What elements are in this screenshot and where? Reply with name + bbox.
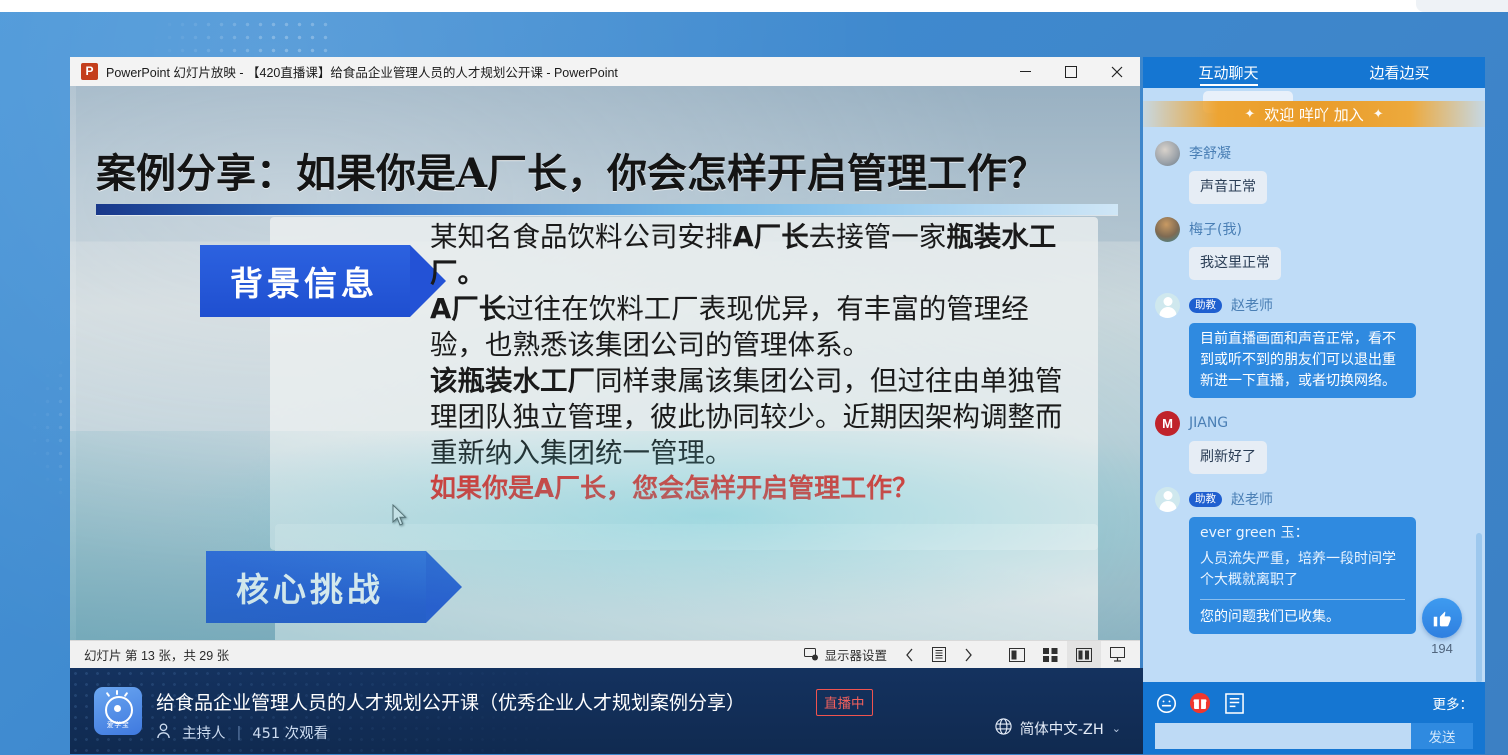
slide-title-underline	[96, 204, 1118, 215]
monitor-settings-icon[interactable]: 显示器设置	[795, 641, 896, 668]
chat-username: 赵老师	[1231, 295, 1273, 315]
platform-logo-label: 爱学宝	[94, 720, 142, 730]
slide-body-paragraph-3: 该瓶装水工厂同样隶属该集团公司，但过往由单独管理团队独立管理，彼此协同较少。近期…	[430, 363, 1080, 471]
chat-scrollbar[interactable]	[1476, 533, 1482, 682]
live-video-player[interactable]: PowerPoint 幻灯片放映 - 【420直播课】给食品企业管理人员的人才规…	[70, 57, 1140, 668]
chat-bubble: 我这里正常	[1189, 247, 1281, 280]
quoted-question-body: 人员流失严重，培养一段时间学个大概就离职了	[1200, 549, 1405, 591]
list-item: 李舒凝 声音正常	[1155, 141, 1467, 204]
host-label: 主持人	[182, 722, 226, 743]
language-label: 简体中文-ZH	[1020, 718, 1104, 739]
chat-bubble: 刷新好了	[1189, 441, 1267, 474]
slide-body-run-1b: A厂长	[733, 221, 809, 253]
powerpoint-title-bar[interactable]: PowerPoint 幻灯片放映 - 【420直播课】给食品企业管理人员的人才规…	[70, 57, 1140, 87]
slide-body-run-2b: 过往在饮料工厂表现优异，有丰富的管理经验，也熟悉该集团公司的管理体系。	[430, 293, 1029, 361]
status-badge: 助教	[1189, 492, 1222, 507]
chat-bubble-reply: 您的问题我们已收集。	[1200, 607, 1405, 628]
person-icon	[156, 723, 171, 743]
chat-message-header: 梅子(我)	[1155, 217, 1467, 241]
globe-icon	[995, 718, 1012, 739]
slide-tag-background-info: 背景信息	[200, 245, 410, 317]
like-count: 194	[1415, 641, 1469, 656]
chat-message-header: 李舒凝	[1155, 141, 1467, 165]
slide-content-panel-bottom	[275, 524, 1098, 641]
avatar[interactable]	[1155, 487, 1180, 512]
list-item: M JIANG 刷新好了	[1155, 411, 1467, 474]
slide-tag-core-label: 核心挑战	[236, 563, 384, 611]
gift-icon[interactable]	[1189, 692, 1211, 714]
welcome-banner-text: 欢迎 咩吖 加入	[1264, 104, 1364, 125]
emoji-icon[interactable]	[1155, 692, 1177, 714]
chat-message-header: M JIANG	[1155, 411, 1467, 435]
note-icon[interactable]	[1223, 692, 1245, 714]
sparkle-icon-left: ✦	[1244, 107, 1255, 122]
chat-input[interactable]	[1155, 723, 1411, 749]
powerpoint-window-title: PowerPoint 幻灯片放映 - 【420直播课】给食品企业管理人员的人才规…	[106, 62, 618, 81]
maximize-button[interactable]	[1048, 57, 1094, 86]
powerpoint-view-tools: 显示器设置	[795, 641, 1140, 668]
slide-body-paragraph-2: A厂长过往在饮料工厂表现优异，有丰富的管理经验，也熟悉该集团公司的管理体系。	[430, 291, 1080, 363]
reading-view-icon[interactable]	[1000, 641, 1034, 668]
avatar[interactable]	[1155, 293, 1180, 318]
live-meta-row: 主持人 | 451 次观看	[156, 722, 328, 743]
chat-bubble: 目前直播画面和声音正常，看不到或听不到的朋友们可以退出重新进一下直播，或者切换网…	[1189, 323, 1416, 398]
quoted-question-author: ever green 玉：	[1200, 523, 1405, 544]
previous-slide-icon[interactable]	[896, 641, 923, 668]
slide-body-run-1c: 去接管一家	[809, 221, 947, 253]
chat-username: 赵老师	[1231, 489, 1273, 509]
slide-body-text: 某知名食品饮料公司安排A厂长去接管一家瓶装水工厂。 A厂长过往在饮料工厂表现优异…	[430, 219, 1080, 507]
live-info-bar: 爱学宝 给食品企业管理人员的人才规划公开课（优秀企业人才规划案例分享） 直播中 …	[70, 668, 1143, 754]
normal-view-icon[interactable]	[1067, 641, 1101, 668]
tab-shop-while-watching-label: 边看边买	[1369, 62, 1429, 83]
chat-username: JIANG	[1189, 415, 1228, 431]
logo-tick-top	[116, 690, 118, 695]
list-item: 助教 赵老师 目前直播画面和声音正常，看不到或听不到的朋友们可以退出重新进一下直…	[1155, 293, 1467, 398]
meta-separator: |	[237, 725, 242, 741]
tab-shop-while-watching[interactable]: 边看边买	[1314, 57, 1485, 88]
composer-toolbar: 更多：	[1155, 690, 1473, 716]
slide-body-run-3a: 该瓶装水工厂	[430, 365, 595, 397]
chat-bubble: 声音正常	[1189, 171, 1267, 204]
bubble-divider	[1200, 599, 1405, 600]
welcome-join-banner: ✦ 欢迎 咩吖 加入 ✦	[1143, 101, 1485, 127]
more-options-button[interactable]: 更多：	[1433, 693, 1474, 713]
composer-input-row: 发送	[1155, 723, 1473, 749]
mouse-cursor	[392, 504, 408, 528]
powerpoint-window: PowerPoint 幻灯片放映 - 【420直播课】给食品企业管理人员的人才规…	[70, 57, 1140, 668]
list-item: 梅子(我) 我这里正常	[1155, 217, 1467, 280]
slide-tag-core-challenge: 核心挑战	[206, 551, 426, 623]
slide-body-question: 如果你是A厂长，您会怎样开启管理工作？	[430, 471, 1080, 507]
send-button[interactable]: 发送	[1411, 723, 1473, 749]
chat-tab-bar: 互动聊天 边看边买	[1143, 57, 1485, 88]
slide-body-run-2a: A厂长	[430, 293, 506, 325]
slide-body-run-1a: 某知名食品饮料公司安排	[430, 221, 733, 253]
status-badge: 直播中	[816, 689, 873, 716]
sparkle-icon-right: ✦	[1373, 107, 1384, 122]
presentation-slide: 案例分享：如果你是A厂长，你会怎样开启管理工作？ 背景信息 核心挑战 某知名食品…	[70, 86, 1140, 641]
screen-top-strip	[0, 0, 1508, 12]
avatar[interactable]	[1155, 141, 1180, 166]
slide-title: 案例分享：如果你是A厂长，你会怎样开启管理工作？	[96, 141, 1118, 199]
thumbs-up-icon[interactable]	[1422, 598, 1462, 638]
powerpoint-icon	[81, 63, 98, 80]
window-controls	[1002, 57, 1140, 86]
tab-interactive-chat-label: 互动聊天	[1198, 62, 1258, 83]
chat-panel: 互动聊天 边看边买 ✦ 欢迎 咩吖 加入 ✦ 李舒凝 声音正常	[1143, 57, 1485, 754]
chat-composer: 更多： 发送	[1143, 682, 1485, 754]
slide-sorter-icon[interactable]	[1034, 641, 1067, 668]
presenter-view-icon[interactable]	[1101, 641, 1134, 668]
logo-tick-right	[124, 692, 129, 697]
slide-body-paragraph-1: 某知名食品饮料公司安排A厂长去接管一家瓶装水工厂。	[430, 219, 1080, 291]
view-count: 451 次观看	[252, 722, 328, 743]
avatar[interactable]: M	[1155, 411, 1180, 436]
chat-username: 李舒凝	[1189, 143, 1231, 163]
slide-counter: 幻灯片 第 13 张，共 29 张	[84, 645, 229, 664]
slide-title-block: 案例分享：如果你是A厂长，你会怎样开启管理工作？	[96, 141, 1118, 215]
tab-interactive-chat[interactable]: 互动聊天	[1143, 57, 1314, 88]
notes-icon[interactable]	[923, 641, 955, 668]
logo-pupil	[114, 705, 121, 712]
close-icon[interactable]	[1094, 57, 1140, 86]
avatar[interactable]	[1155, 217, 1180, 242]
logo-tick-left	[106, 692, 111, 697]
powerpoint-status-bar: 幻灯片 第 13 张，共 29 张 显示器设置	[70, 640, 1140, 668]
chat-username: 梅子(我)	[1189, 219, 1242, 239]
status-badge: 助教	[1189, 298, 1222, 313]
chat-message-header: 助教 赵老师	[1155, 293, 1467, 317]
platform-logo: 爱学宝	[94, 687, 142, 735]
chat-message-scroll-area[interactable]: ✦ 欢迎 咩吖 加入 ✦ 李舒凝 声音正常 梅子(我) 我这里正常	[1143, 88, 1485, 682]
next-slide-icon[interactable]	[955, 641, 982, 668]
page-title: 给食品企业管理人员的人才规划公开课（优秀企业人才规划案例分享）	[156, 688, 745, 715]
chevron-down-icon: ⌄	[1112, 722, 1121, 735]
chat-bubble-with-quote: ever green 玉： 人员流失严重，培养一段时间学个大概就离职了 您的问题…	[1189, 517, 1416, 634]
chat-message-header: 助教 赵老师	[1155, 487, 1467, 511]
monitor-settings-label: 显示器设置	[824, 645, 887, 664]
minimize-button[interactable]	[1002, 57, 1048, 86]
slide-tag-background-label: 背景信息	[230, 257, 378, 305]
language-selector[interactable]: 简体中文-ZH ⌄	[995, 718, 1121, 739]
chat-message-list: 李舒凝 声音正常 梅子(我) 我这里正常 助教 赵老师 目前直播画面和声音正常，…	[1143, 128, 1485, 640]
like-widget: 194	[1415, 598, 1469, 656]
